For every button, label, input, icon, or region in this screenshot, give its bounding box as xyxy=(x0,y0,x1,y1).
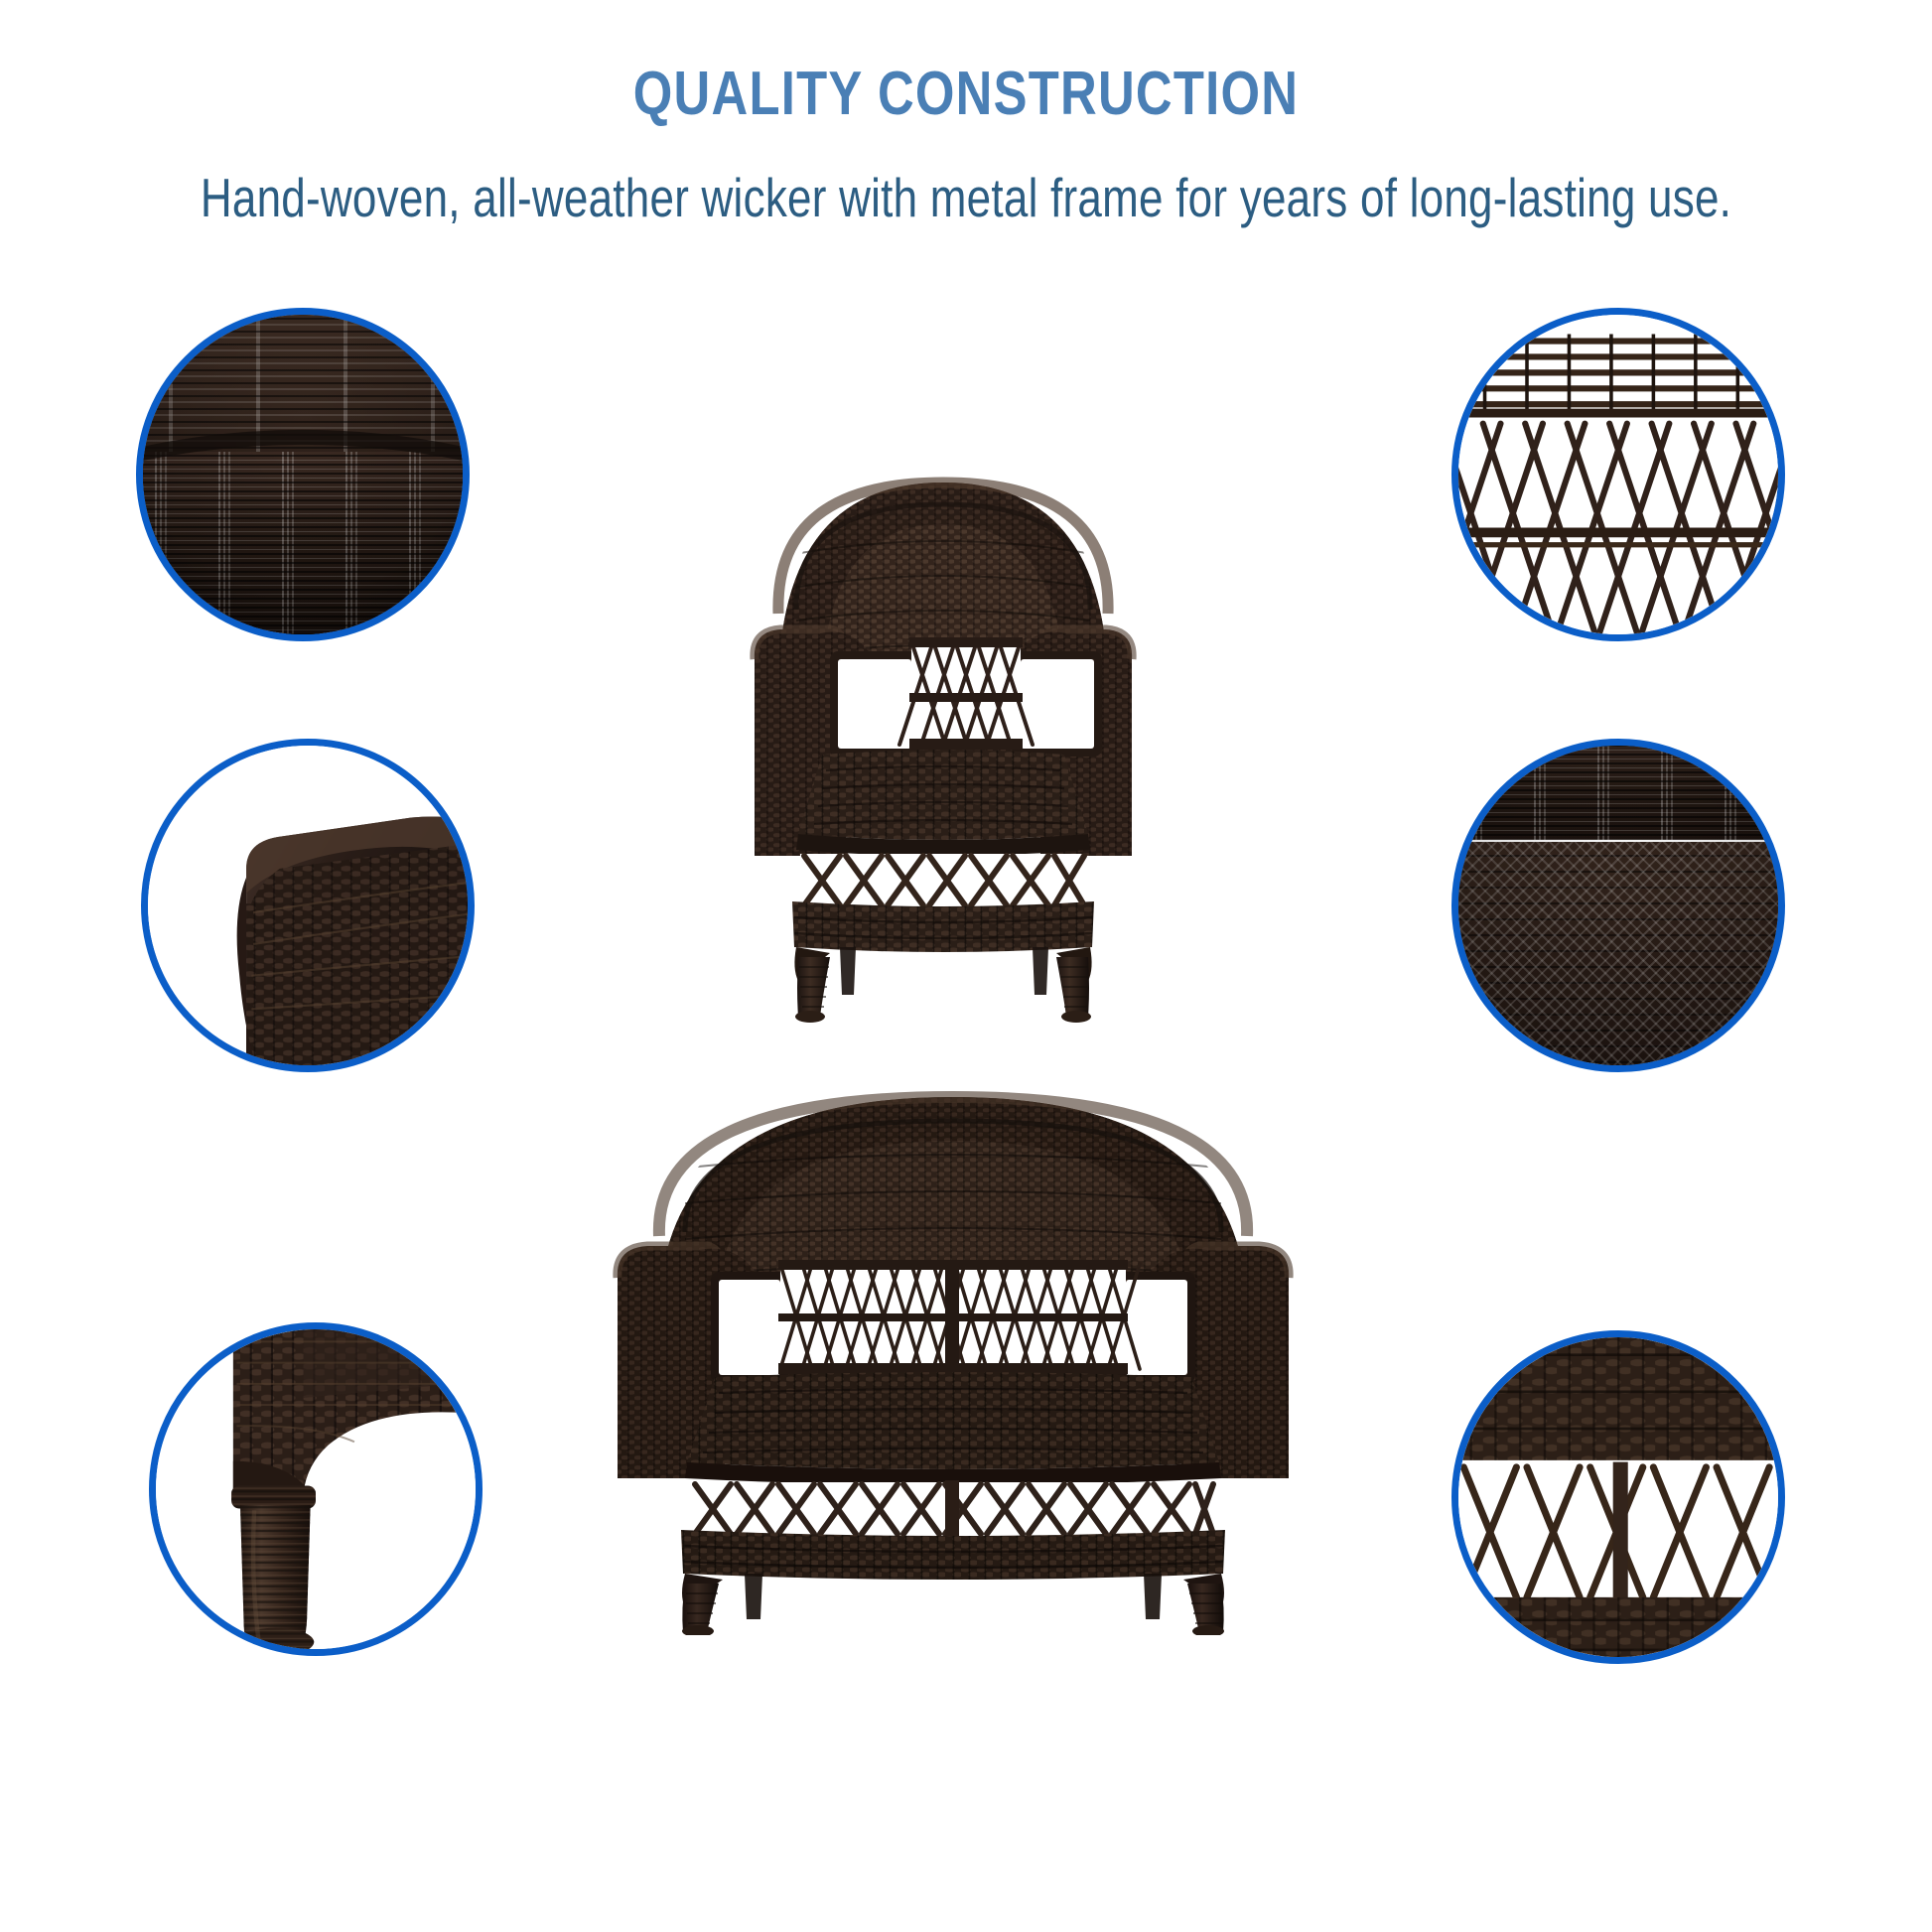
product-caption: Dark brown all-weather wicker armchair, … xyxy=(735,1023,736,1024)
detail-circle-armrest-corner: Close-up of woven armrest corner xyxy=(141,739,475,1072)
detail-circle-leg-joint: Close-up of wrapped tapered leg and fram… xyxy=(149,1322,483,1656)
detail-circle-back-weave: Close-up of tight horizontal wicker weav… xyxy=(136,308,470,641)
armchair-illustration xyxy=(735,465,1152,1023)
detail-circle-skirt-crisscross: Close-up of criss-cross open weave skirt xyxy=(1451,1330,1785,1664)
page-subtitle: Hand-woven, all-weather wicker with meta… xyxy=(194,126,1739,229)
open-lattice-art xyxy=(1458,315,1778,634)
seat-weave-shading xyxy=(1458,746,1778,1065)
back-weave-shading xyxy=(143,315,463,634)
product-caption: Dark brown all-weather wicker loveseat, … xyxy=(596,1635,597,1636)
detail-circle-open-lattice: Close-up of open diamond lattice back pa… xyxy=(1451,308,1785,641)
product-loveseat: Dark brown all-weather wicker loveseat, … xyxy=(596,1077,1311,1635)
loveseat-illustration xyxy=(596,1077,1311,1635)
armrest-corner-art xyxy=(148,746,468,1065)
product-armchair: Dark brown all-weather wicker armchair, … xyxy=(735,465,1152,1023)
infographic-canvas: QUALITY CONSTRUCTION Hand-woven, all-wea… xyxy=(0,0,1932,1932)
header: QUALITY CONSTRUCTION Hand-woven, all-wea… xyxy=(0,0,1932,229)
leg-joint-art xyxy=(156,1329,476,1649)
page-title: QUALITY CONSTRUCTION xyxy=(174,0,1758,126)
skirt-crisscross-art xyxy=(1458,1337,1778,1657)
detail-circle-seat-weave: Close-up of dense chevron seat weave xyxy=(1451,739,1785,1072)
